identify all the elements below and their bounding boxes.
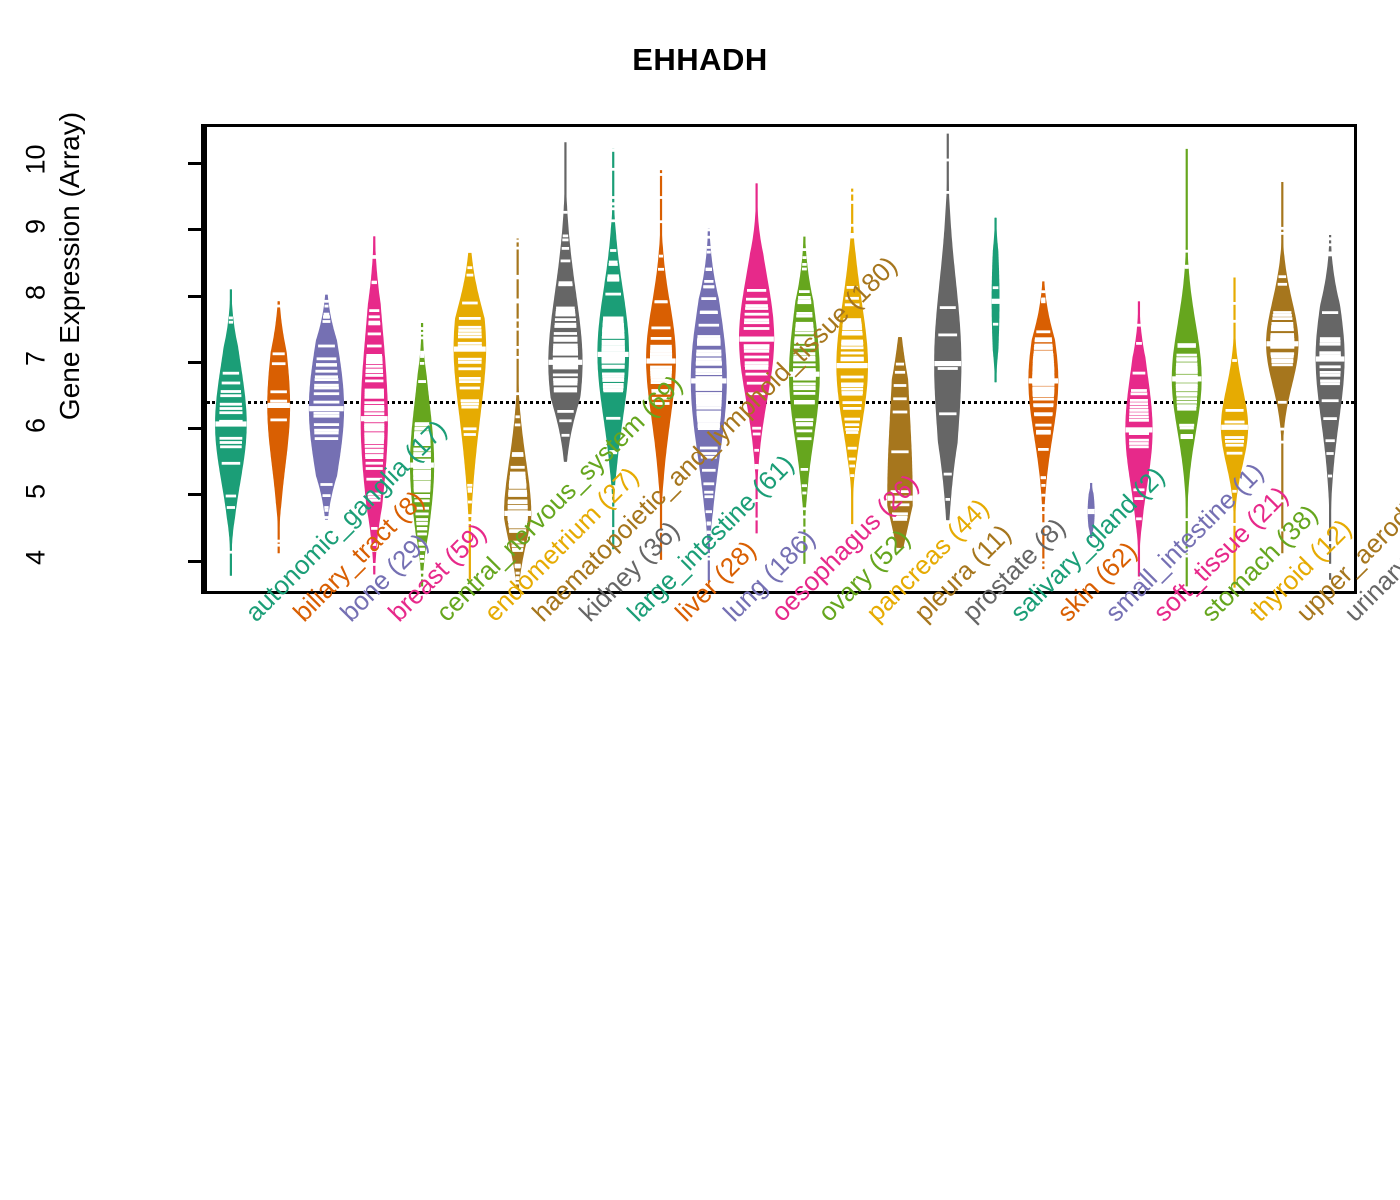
data-point-mark bbox=[557, 410, 573, 413]
data-point-mark bbox=[654, 301, 667, 304]
data-point-mark bbox=[513, 548, 523, 551]
data-point-mark bbox=[1320, 380, 1340, 383]
data-point-mark bbox=[562, 434, 570, 437]
data-point-mark bbox=[1176, 383, 1198, 386]
data-point-mark bbox=[1185, 250, 1189, 253]
violin-liver[interactable] bbox=[646, 170, 676, 560]
data-point-mark bbox=[793, 368, 816, 371]
data-point-mark bbox=[891, 490, 910, 493]
data-point-mark bbox=[1185, 555, 1189, 558]
data-point-mark bbox=[516, 240, 520, 243]
data-point-mark bbox=[755, 467, 759, 470]
data-point-mark bbox=[314, 387, 339, 390]
data-point-mark bbox=[1328, 570, 1332, 573]
data-point-mark bbox=[1176, 357, 1197, 360]
data-point-mark bbox=[460, 387, 480, 390]
data-point-mark bbox=[414, 494, 430, 497]
data-point-mark bbox=[1129, 412, 1148, 415]
data-point-mark bbox=[1129, 432, 1149, 435]
data-point-mark bbox=[744, 344, 770, 347]
data-point-mark bbox=[650, 373, 671, 376]
violin-salivary_gland[interactable] bbox=[992, 218, 1000, 382]
data-point-mark bbox=[796, 430, 812, 433]
data-point-mark bbox=[369, 315, 380, 318]
median-marker bbox=[691, 378, 726, 383]
data-point-mark bbox=[1185, 541, 1189, 544]
data-point-mark bbox=[1233, 523, 1237, 526]
data-point-mark bbox=[468, 490, 472, 493]
data-point-mark bbox=[845, 303, 860, 306]
data-point-mark bbox=[845, 428, 859, 431]
data-point-mark bbox=[705, 495, 714, 498]
data-point-mark bbox=[894, 384, 907, 387]
violin-large_intestine[interactable] bbox=[597, 149, 629, 549]
data-point-mark bbox=[946, 498, 951, 501]
data-point-mark bbox=[1280, 500, 1284, 503]
data-point-mark bbox=[314, 429, 339, 432]
data-point-mark bbox=[794, 346, 815, 349]
data-point-mark bbox=[1280, 441, 1284, 444]
data-point-mark bbox=[939, 412, 956, 415]
data-point-mark bbox=[222, 382, 241, 385]
median-marker bbox=[837, 363, 868, 368]
data-point-mark bbox=[509, 529, 526, 532]
data-point-mark bbox=[755, 499, 759, 502]
data-point-mark bbox=[802, 234, 806, 237]
data-point-mark bbox=[703, 285, 714, 288]
data-point-mark bbox=[938, 367, 958, 370]
data-point-mark bbox=[850, 233, 854, 236]
data-point-mark bbox=[416, 518, 428, 521]
data-point-mark bbox=[559, 281, 573, 284]
data-point-mark bbox=[1320, 340, 1341, 343]
data-point-mark bbox=[1328, 564, 1332, 567]
data-point-mark bbox=[516, 247, 520, 250]
data-point-mark bbox=[365, 445, 384, 448]
data-point-mark bbox=[1185, 518, 1189, 521]
data-point-mark bbox=[744, 347, 770, 350]
data-point-mark bbox=[611, 527, 615, 530]
data-point-mark bbox=[1034, 351, 1053, 354]
violin-upper_aerodigestive_tract[interactable] bbox=[1266, 182, 1299, 553]
data-point-mark bbox=[468, 501, 472, 504]
data-point-mark bbox=[841, 340, 863, 343]
data-point-mark bbox=[946, 191, 950, 194]
data-point-mark bbox=[847, 286, 858, 289]
data-point-mark bbox=[940, 306, 956, 309]
data-point-mark bbox=[511, 541, 524, 544]
data-point-mark bbox=[554, 337, 578, 340]
data-point-mark bbox=[1232, 490, 1236, 493]
violin-central_nervous_system[interactable] bbox=[410, 320, 434, 586]
data-point-mark bbox=[1273, 311, 1291, 314]
data-point-mark bbox=[555, 318, 576, 321]
data-point-mark bbox=[707, 523, 711, 526]
data-point-mark bbox=[468, 487, 473, 490]
data-point-mark bbox=[802, 268, 807, 271]
median-marker bbox=[504, 511, 531, 516]
violin-biliary_tract[interactable] bbox=[267, 301, 290, 553]
data-point-mark bbox=[419, 543, 426, 546]
data-point-mark bbox=[802, 263, 807, 266]
data-point-mark bbox=[1328, 238, 1332, 241]
data-point-mark bbox=[993, 323, 998, 326]
data-point-mark bbox=[562, 247, 569, 250]
data-point-mark bbox=[1272, 317, 1292, 320]
data-point-mark bbox=[1185, 551, 1189, 554]
data-point-mark bbox=[1036, 330, 1050, 333]
violin-lung[interactable] bbox=[691, 228, 727, 581]
data-point-mark bbox=[1034, 345, 1053, 348]
data-point-mark bbox=[651, 379, 672, 382]
data-point-mark bbox=[602, 333, 625, 336]
data-point-mark bbox=[1137, 580, 1141, 583]
violin-thyroid[interactable] bbox=[1221, 277, 1248, 587]
data-point-mark bbox=[420, 337, 424, 340]
data-point-mark bbox=[223, 372, 239, 375]
data-point-mark bbox=[844, 418, 860, 421]
data-point-mark bbox=[993, 286, 999, 289]
data-point-mark bbox=[1176, 392, 1197, 395]
data-point-mark bbox=[365, 380, 383, 383]
data-point-mark bbox=[277, 544, 281, 547]
violin-bone[interactable] bbox=[309, 295, 344, 523]
data-point-mark bbox=[610, 249, 616, 252]
violin-prostate[interactable] bbox=[934, 134, 961, 520]
data-point-mark bbox=[314, 412, 340, 415]
data-point-mark bbox=[461, 406, 478, 409]
median-marker bbox=[1126, 427, 1153, 432]
violin-autonomic_ganglia[interactable] bbox=[215, 289, 247, 575]
data-point-mark bbox=[753, 433, 761, 436]
violin-ovary[interactable] bbox=[789, 234, 820, 564]
data-point-mark bbox=[516, 299, 520, 302]
data-point-mark bbox=[1233, 320, 1237, 323]
data-point-mark bbox=[698, 427, 720, 430]
data-point-mark bbox=[707, 251, 711, 254]
data-point-mark bbox=[415, 422, 429, 425]
violin-urinary_tract[interactable] bbox=[1316, 235, 1345, 580]
data-point-mark bbox=[461, 399, 479, 402]
median-marker bbox=[646, 358, 675, 363]
data-point-mark bbox=[795, 336, 815, 339]
violin-breast[interactable] bbox=[361, 236, 388, 574]
data-point-mark bbox=[367, 493, 381, 496]
data-point-mark bbox=[1041, 298, 1045, 301]
data-point-mark bbox=[611, 196, 615, 199]
data-point-mark bbox=[415, 507, 429, 510]
data-point-mark bbox=[707, 246, 711, 249]
data-point-mark bbox=[1133, 372, 1146, 375]
data-point-mark bbox=[1034, 412, 1053, 415]
data-point-mark bbox=[850, 201, 854, 204]
data-point-mark bbox=[559, 419, 571, 422]
data-point-mark bbox=[1328, 252, 1332, 255]
violin-small_intestine[interactable] bbox=[1088, 483, 1095, 538]
data-point-mark bbox=[323, 320, 331, 323]
data-point-mark bbox=[796, 315, 812, 318]
data-point-mark bbox=[650, 355, 672, 358]
data-point-mark bbox=[1177, 397, 1197, 400]
median-marker bbox=[309, 406, 344, 411]
data-point-mark bbox=[658, 268, 664, 271]
data-point-mark bbox=[745, 367, 768, 370]
median-marker bbox=[789, 372, 819, 377]
data-point-mark bbox=[516, 582, 520, 585]
data-point-mark bbox=[365, 456, 383, 459]
data-point-mark bbox=[368, 322, 380, 325]
data-point-mark bbox=[700, 311, 717, 314]
data-point-mark bbox=[417, 533, 427, 536]
data-point-mark bbox=[420, 555, 424, 558]
data-point-mark bbox=[1280, 232, 1284, 235]
violin-body bbox=[215, 289, 247, 575]
data-point-mark bbox=[696, 352, 721, 355]
data-point-mark bbox=[420, 355, 424, 358]
data-point-mark bbox=[1319, 351, 1340, 354]
data-point-mark bbox=[891, 450, 908, 453]
data-point-mark bbox=[372, 255, 376, 258]
data-point-mark bbox=[698, 423, 720, 426]
data-point-mark bbox=[1225, 440, 1244, 443]
data-point-mark bbox=[850, 524, 854, 527]
data-point-mark bbox=[849, 465, 855, 468]
data-point-mark bbox=[1041, 484, 1045, 487]
median-marker bbox=[410, 463, 434, 468]
data-point-mark bbox=[603, 317, 623, 320]
median-marker bbox=[934, 361, 961, 366]
data-point-mark bbox=[458, 342, 482, 345]
data-point-mark bbox=[744, 350, 769, 353]
data-point-mark bbox=[1177, 401, 1197, 404]
violin-body bbox=[267, 301, 290, 553]
data-point-mark bbox=[515, 424, 521, 427]
data-point-mark bbox=[701, 456, 717, 459]
data-point-mark bbox=[325, 520, 329, 523]
data-point-mark bbox=[1035, 424, 1051, 427]
violin-stomach[interactable] bbox=[1172, 149, 1202, 587]
data-point-mark bbox=[1041, 290, 1045, 293]
data-point-mark bbox=[795, 418, 813, 421]
data-point-mark bbox=[1033, 398, 1054, 401]
data-point-mark bbox=[420, 332, 424, 335]
data-point-mark bbox=[420, 351, 424, 354]
data-point-mark bbox=[315, 437, 339, 440]
data-point-mark bbox=[652, 397, 670, 400]
data-point-mark bbox=[659, 255, 663, 258]
violin-skin[interactable] bbox=[1028, 281, 1058, 569]
data-point-mark bbox=[696, 395, 722, 398]
data-point-mark bbox=[1273, 314, 1292, 317]
data-point-mark bbox=[696, 360, 722, 363]
data-point-mark bbox=[467, 274, 474, 277]
data-point-mark bbox=[1129, 419, 1149, 422]
data-point-mark bbox=[372, 281, 377, 284]
data-point-mark bbox=[516, 328, 520, 331]
data-point-mark bbox=[277, 305, 281, 308]
data-point-mark bbox=[611, 168, 615, 171]
data-point-mark bbox=[696, 358, 722, 361]
data-point-mark bbox=[369, 309, 379, 312]
data-point-mark bbox=[270, 400, 287, 403]
data-point-mark bbox=[1032, 386, 1054, 389]
data-point-mark bbox=[745, 313, 769, 316]
data-point-mark bbox=[222, 462, 241, 465]
data-point-mark bbox=[896, 363, 904, 366]
data-point-mark bbox=[1038, 448, 1049, 451]
data-point-mark bbox=[706, 510, 712, 513]
data-point-mark bbox=[1130, 402, 1148, 405]
data-point-mark bbox=[700, 447, 718, 450]
data-point-mark bbox=[324, 506, 328, 509]
data-point-mark bbox=[848, 447, 857, 450]
median-marker bbox=[454, 347, 486, 352]
data-point-mark bbox=[1176, 362, 1197, 365]
data-point-mark bbox=[606, 417, 620, 420]
y-tick-mark bbox=[188, 427, 204, 430]
data-point-mark bbox=[1278, 401, 1287, 404]
data-point-mark bbox=[1280, 428, 1284, 431]
data-point-mark bbox=[611, 500, 615, 503]
data-point-mark bbox=[842, 331, 862, 334]
data-point-mark bbox=[696, 397, 722, 400]
y-tick-mark bbox=[188, 361, 204, 364]
data-point-mark bbox=[508, 523, 527, 526]
violin-oesophagus[interactable] bbox=[739, 183, 774, 533]
violin-kidney[interactable] bbox=[548, 142, 582, 462]
data-point-mark bbox=[315, 370, 337, 373]
violin-body bbox=[646, 170, 676, 560]
data-point-mark bbox=[273, 352, 285, 355]
data-point-mark bbox=[796, 422, 813, 425]
data-point-mark bbox=[1035, 339, 1053, 342]
violin-haematopoietic_and_lymphoid_tissue[interactable] bbox=[504, 236, 531, 589]
data-point-mark bbox=[1280, 529, 1284, 532]
data-point-mark bbox=[229, 317, 233, 320]
data-point-mark bbox=[1271, 359, 1293, 362]
data-point-mark bbox=[748, 392, 765, 395]
data-point-mark bbox=[794, 400, 815, 403]
data-point-mark bbox=[696, 368, 722, 371]
violin-pancreas[interactable] bbox=[836, 189, 868, 527]
data-point-mark bbox=[1320, 371, 1341, 374]
data-point-mark bbox=[946, 159, 950, 162]
data-point-mark bbox=[1179, 424, 1194, 427]
data-point-mark bbox=[607, 279, 619, 282]
violin-soft_tissue[interactable] bbox=[1125, 301, 1152, 582]
data-point-mark bbox=[696, 372, 723, 375]
data-point-mark bbox=[510, 472, 525, 475]
y-tick-label: 9 bbox=[23, 196, 50, 256]
data-point-mark bbox=[367, 345, 382, 348]
page-title: EHHADH bbox=[0, 42, 1400, 78]
data-point-mark bbox=[1279, 275, 1287, 278]
data-point-mark bbox=[797, 312, 813, 315]
data-point-mark bbox=[315, 378, 339, 381]
data-point-mark bbox=[365, 374, 383, 377]
data-point-mark bbox=[366, 462, 383, 465]
y-tick-mark bbox=[188, 228, 204, 231]
violin-pleura[interactable] bbox=[887, 337, 913, 548]
data-point-mark bbox=[1271, 333, 1294, 336]
violin-endometrium[interactable] bbox=[454, 253, 487, 580]
data-point-mark bbox=[516, 415, 520, 418]
data-point-mark bbox=[841, 388, 863, 391]
data-point-mark bbox=[229, 321, 233, 324]
data-point-mark bbox=[1136, 517, 1142, 520]
data-point-mark bbox=[602, 375, 624, 378]
data-point-mark bbox=[802, 484, 807, 487]
median-marker bbox=[598, 352, 629, 357]
data-point-mark bbox=[220, 445, 242, 448]
data-point-mark bbox=[602, 378, 624, 381]
data-point-mark bbox=[366, 478, 382, 481]
y-axis-title: Gene Expression (Array) bbox=[54, 66, 86, 466]
data-point-mark bbox=[364, 432, 384, 435]
data-point-mark bbox=[1225, 436, 1244, 439]
data-point-mark bbox=[893, 411, 908, 414]
data-point-mark bbox=[846, 431, 858, 434]
data-point-mark bbox=[468, 521, 472, 524]
data-point-mark bbox=[651, 389, 670, 392]
data-point-mark bbox=[603, 388, 623, 391]
data-point-mark bbox=[1320, 382, 1340, 385]
data-point-mark bbox=[802, 516, 806, 519]
data-point-mark bbox=[227, 506, 235, 509]
data-point-mark bbox=[707, 531, 711, 534]
data-point-mark bbox=[650, 350, 672, 353]
data-point-mark bbox=[508, 490, 527, 493]
data-point-mark bbox=[745, 364, 769, 367]
data-point-mark bbox=[220, 407, 243, 410]
data-point-mark bbox=[420, 560, 424, 563]
data-point-mark bbox=[650, 368, 672, 371]
data-point-mark bbox=[458, 336, 482, 339]
data-point-mark bbox=[744, 321, 769, 324]
data-point-mark bbox=[512, 544, 524, 547]
data-point-mark bbox=[893, 397, 907, 400]
data-point-mark bbox=[562, 239, 568, 242]
data-point-mark bbox=[602, 345, 625, 348]
data-point-mark bbox=[841, 357, 864, 360]
data-point-mark bbox=[516, 319, 520, 322]
data-point-mark bbox=[1137, 324, 1141, 327]
data-point-mark bbox=[704, 491, 713, 494]
data-point-mark bbox=[314, 423, 339, 426]
data-point-mark bbox=[516, 392, 520, 395]
data-point-mark bbox=[843, 407, 861, 410]
data-point-mark bbox=[698, 335, 721, 338]
violin-layer bbox=[207, 127, 1354, 591]
data-point-mark bbox=[508, 500, 528, 503]
data-point-mark bbox=[650, 353, 672, 356]
plot-area bbox=[204, 124, 1357, 594]
y-tick-mark bbox=[188, 295, 204, 298]
data-point-mark bbox=[802, 533, 806, 536]
data-point-mark bbox=[1328, 243, 1332, 246]
data-point-mark bbox=[1133, 488, 1144, 491]
median-marker bbox=[549, 360, 583, 365]
data-point-mark bbox=[553, 374, 578, 377]
data-point-mark bbox=[317, 357, 337, 360]
data-point-mark bbox=[651, 376, 672, 379]
data-point-mark bbox=[841, 376, 864, 379]
data-point-mark bbox=[1181, 434, 1193, 437]
data-point-mark bbox=[892, 516, 907, 519]
data-point-mark bbox=[747, 382, 767, 385]
data-point-mark bbox=[841, 346, 864, 349]
data-point-mark bbox=[1036, 430, 1051, 433]
